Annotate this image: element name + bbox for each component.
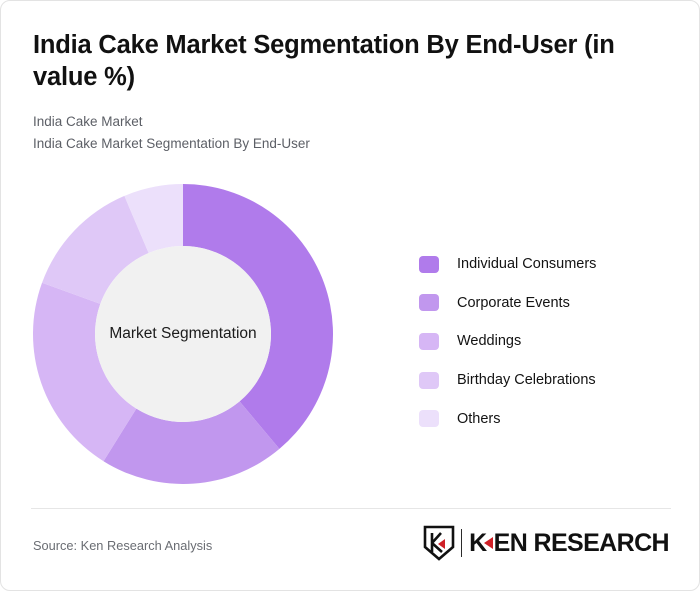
legend-item[interactable]: Weddings	[419, 322, 679, 361]
donut-chart: Market Segmentation	[33, 184, 333, 484]
subtitle-block: India Cake Market India Cake Market Segm…	[33, 111, 673, 155]
legend-color-swatch	[419, 294, 439, 311]
legend-item[interactable]: Individual Consumers	[419, 245, 679, 284]
legend-item-label: Others	[457, 411, 501, 427]
donut-hole	[95, 246, 271, 422]
chart-legend: Individual ConsumersCorporate EventsWedd…	[419, 245, 679, 438]
brand-letter-k: K	[469, 529, 486, 558]
ken-research-shield-icon	[423, 525, 455, 561]
brand-divider	[461, 529, 463, 557]
brand-logo: K EN RESEARCH	[423, 525, 669, 561]
legend-item[interactable]: Corporate Events	[419, 284, 679, 323]
footer-divider	[31, 508, 671, 509]
legend-color-swatch	[419, 333, 439, 350]
subtitle-line-1: India Cake Market	[33, 111, 673, 133]
legend-item[interactable]: Birthday Celebrations	[419, 361, 679, 400]
brand-name-text: EN RESEARCH	[494, 529, 669, 558]
brand-wordmark: K EN RESEARCH	[469, 529, 669, 558]
legend-color-swatch	[419, 256, 439, 273]
donut-chart-svg	[33, 184, 333, 484]
legend-color-swatch	[419, 372, 439, 389]
plot-area: Market Segmentation Individual Consumers…	[1, 169, 700, 501]
legend-item-label: Birthday Celebrations	[457, 372, 596, 388]
source-note: Source: Ken Research Analysis	[33, 538, 212, 553]
legend-item-label: Individual Consumers	[457, 256, 596, 272]
subtitle-line-2: India Cake Market Segmentation By End-Us…	[33, 133, 673, 155]
legend-item[interactable]: Others	[419, 399, 679, 438]
chart-card: India Cake Market Segmentation By End-Us…	[0, 0, 700, 591]
legend-color-swatch	[419, 410, 439, 427]
legend-item-label: Corporate Events	[457, 295, 570, 311]
legend-item-label: Weddings	[457, 333, 521, 349]
page-title: India Cake Market Segmentation By End-Us…	[33, 29, 673, 93]
chart-header: India Cake Market Segmentation By End-Us…	[33, 29, 673, 155]
